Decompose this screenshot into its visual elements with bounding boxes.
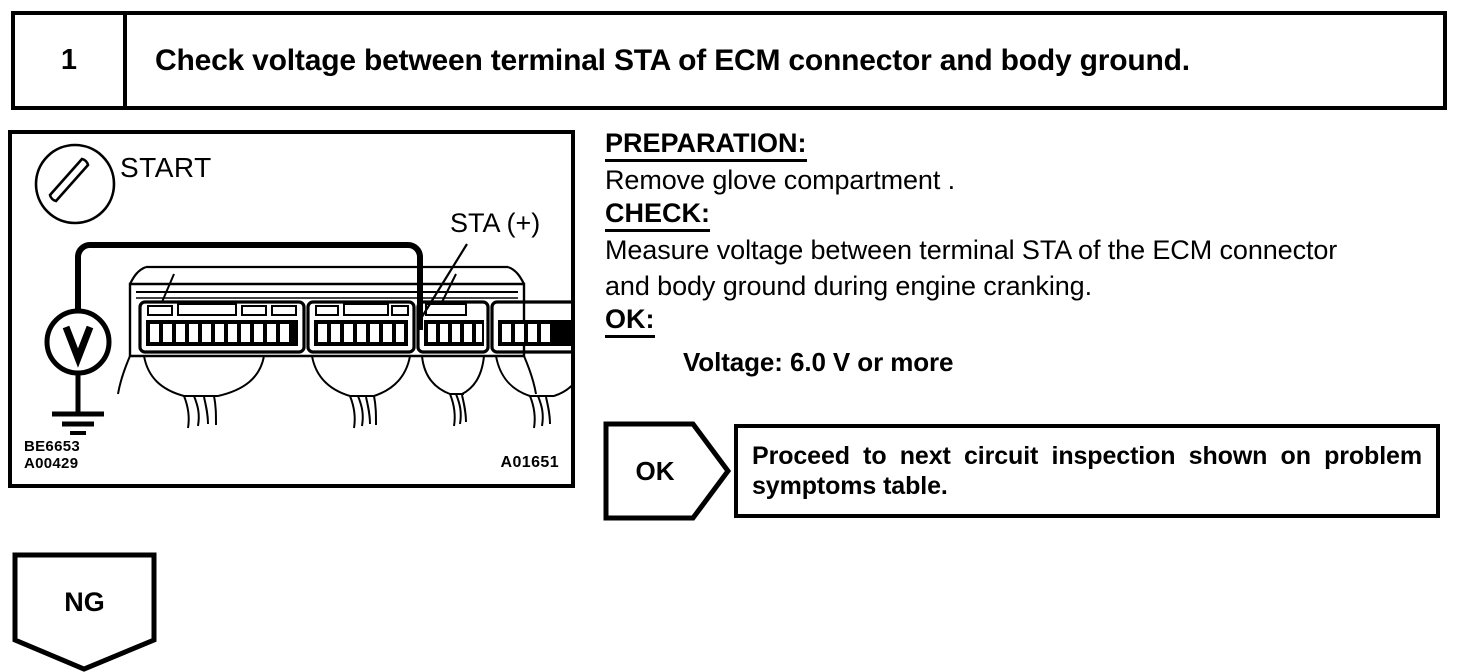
ignition-key-switch-icon bbox=[36, 145, 114, 223]
step-number-cell: 1 bbox=[15, 15, 127, 106]
connector-block-4 bbox=[492, 302, 571, 352]
step-number: 1 bbox=[61, 44, 77, 77]
wiring-diagram-panel: START STA (+) BE6653 A00429 A01651 bbox=[8, 130, 575, 488]
ng-arrow-label: NG bbox=[12, 552, 157, 652]
check-block: CHECK: Measure voltage between terminal … bbox=[605, 200, 1465, 302]
voltmeter-symbol bbox=[47, 311, 109, 373]
instructions-column: PREPARATION: Remove glove compartment . … bbox=[605, 130, 1465, 382]
connector-block-2 bbox=[308, 302, 414, 352]
preparation-heading: PREPARATION: bbox=[605, 130, 807, 162]
preparation-text: Remove glove compartment . bbox=[605, 165, 1465, 196]
connector-block-1 bbox=[140, 302, 304, 352]
step-header-box: 1 Check voltage between terminal STA of … bbox=[11, 11, 1447, 110]
diagram-code-right: A01651 bbox=[501, 454, 559, 472]
wire-bundles bbox=[144, 356, 571, 428]
ok-result-row: OK Proceed to next circuit inspection sh… bbox=[603, 421, 1448, 523]
ok-block: OK: Voltage: 6.0 V or more bbox=[605, 306, 1465, 378]
diagram-code-left-line1: BE6653 bbox=[24, 438, 80, 455]
step-title: Check voltage between terminal STA of EC… bbox=[155, 44, 1190, 77]
diagram-code-left: BE6653 A00429 bbox=[24, 438, 80, 473]
sta-terminal-label: STA (+) bbox=[450, 208, 540, 239]
connector-block-3 bbox=[418, 302, 488, 352]
ok-criteria-value: Voltage: 6.0 V or more bbox=[683, 347, 1465, 378]
ok-arrow-label: OK bbox=[603, 421, 707, 521]
start-label: START bbox=[120, 152, 212, 184]
step-title-cell: Check voltage between terminal STA of EC… bbox=[127, 15, 1443, 106]
sta-leader-line bbox=[420, 244, 467, 320]
ok-result-text: Proceed to next circuit inspection shown… bbox=[752, 441, 1422, 502]
wiring-diagram-svg bbox=[12, 134, 571, 484]
check-text-line2: and body ground during engine cranking. bbox=[605, 271, 1465, 302]
preparation-block: PREPARATION: Remove glove compartment . bbox=[605, 130, 1465, 196]
check-text-line1: Measure voltage between terminal STA of … bbox=[605, 235, 1465, 266]
diagram-code-left-line2: A00429 bbox=[24, 455, 80, 472]
check-heading: CHECK: bbox=[605, 200, 710, 232]
ecm-connector-assembly bbox=[118, 267, 571, 428]
chassis-ground-icon bbox=[52, 414, 104, 433]
ok-result-box: Proceed to next circuit inspection shown… bbox=[734, 424, 1440, 518]
ok-heading: OK: bbox=[605, 306, 655, 338]
